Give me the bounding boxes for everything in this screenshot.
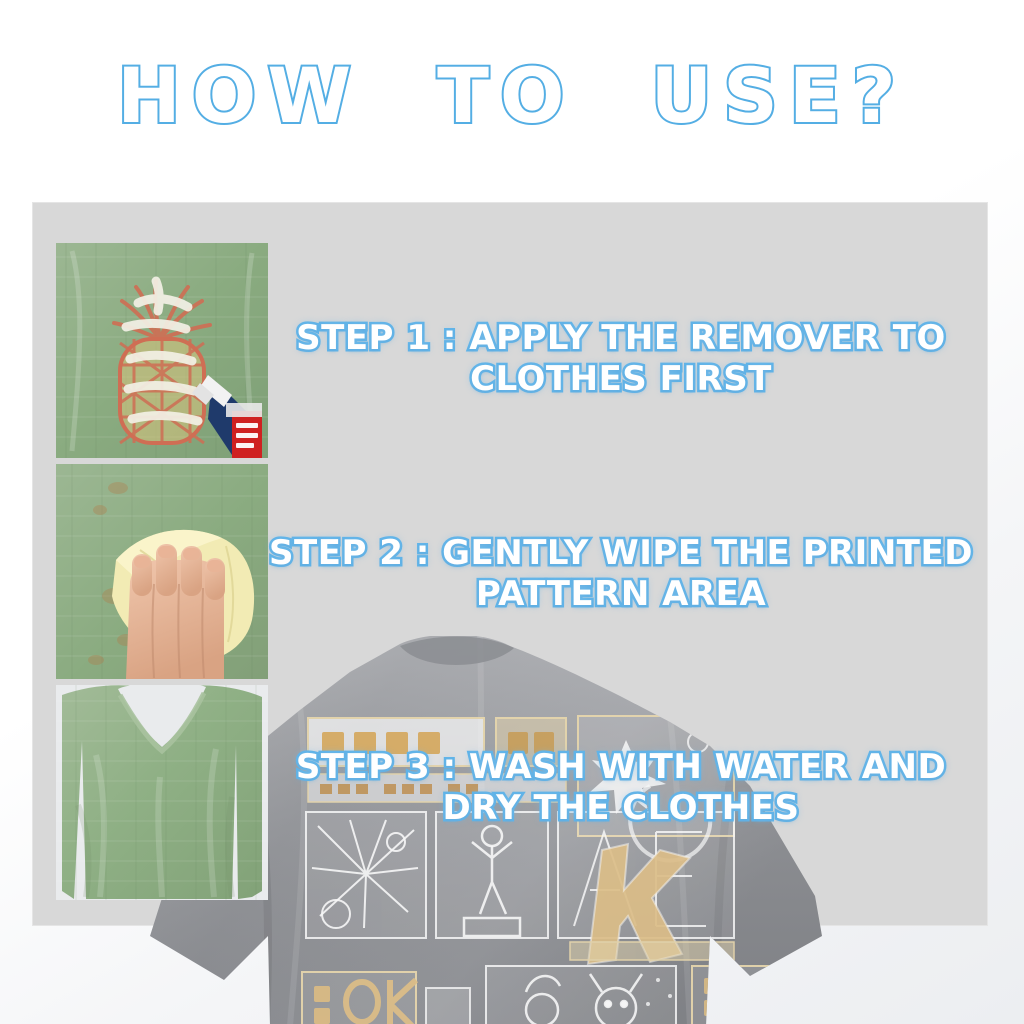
photo-step-3 bbox=[56, 685, 268, 900]
step-3-caption: STEP 3 : WASH WITH WATER AND DRY THE CLO… bbox=[268, 747, 974, 830]
step-3-line-2: DRY THE CLOTHES bbox=[268, 788, 974, 829]
step-1-line-1: STEP 1 : APPLY THE REMOVER TO bbox=[268, 318, 974, 359]
step-2-line-2: PATTERN AREA bbox=[268, 574, 974, 615]
photo-column bbox=[56, 243, 268, 900]
step-1-caption: STEP 1 : APPLY THE REMOVER TO CLOTHES FI… bbox=[268, 318, 974, 401]
step-2-caption: STEP 2 : GENTLY WIPE THE PRINTED PATTERN… bbox=[268, 533, 974, 616]
step-2-line-1: STEP 2 : GENTLY WIPE THE PRINTED bbox=[268, 533, 974, 574]
photo-step-1 bbox=[56, 243, 268, 458]
step-1-line-2: CLOTHES FIRST bbox=[268, 359, 974, 400]
photo-step-2 bbox=[56, 464, 268, 679]
how-to-use-graphic: HOW TO USE? bbox=[0, 0, 1024, 1024]
step-3-line-1: STEP 3 : WASH WITH WATER AND bbox=[268, 747, 974, 788]
page-title: HOW TO USE? bbox=[0, 58, 1024, 134]
